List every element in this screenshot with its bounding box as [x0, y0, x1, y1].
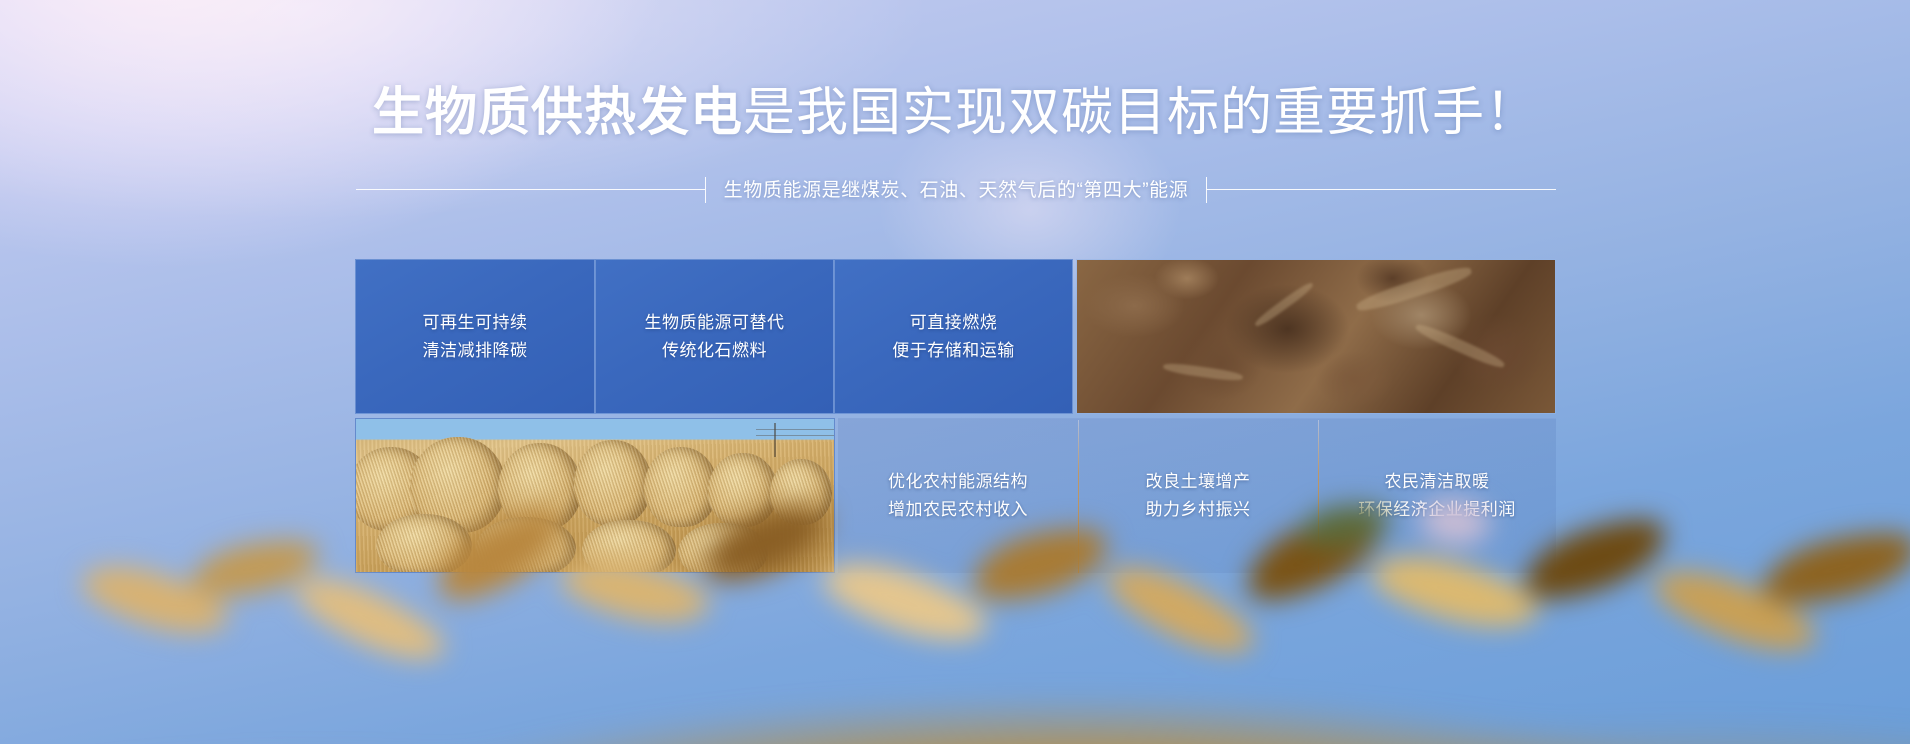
headline-remainder: 是我国实现双碳目标的重要抓手！ — [743, 84, 1538, 142]
straw-bales-image — [355, 418, 835, 573]
feature-line-1: 优化农村能源结构 — [888, 468, 1028, 496]
feature-cell-text: 改良土壤增产 助力乡村振兴 — [1146, 468, 1251, 523]
wood-chips-image — [1076, 259, 1556, 414]
feature-line-1: 可直接燃烧 — [892, 309, 1015, 337]
feature-cell-fossil-substitute[interactable]: 生物质能源可替代 传统化石燃料 — [595, 259, 834, 414]
feature-line-1: 改良土壤增产 — [1146, 468, 1251, 496]
feature-cell-text: 农民清洁取暖 环保经济企业提利润 — [1358, 468, 1516, 523]
straw-bales-texture — [356, 419, 834, 572]
banner-headline: 生物质供热发电是我国实现双碳目标的重要抓手！ — [0, 84, 1910, 142]
banner-subtitle: 生物质能源是继煤炭、石油、天然气后的“第四大”能源 — [706, 175, 1207, 202]
feature-line-1: 生物质能源可替代 — [645, 309, 785, 337]
feature-cell-text: 可再生可持续 清洁减排降碳 — [423, 309, 528, 364]
feature-cell-renewable[interactable]: 可再生可持续 清洁减排降碳 — [355, 259, 595, 414]
banner-subtitle-row: 生物质能源是继煤炭、石油、天然气后的“第四大”能源 — [356, 176, 1556, 203]
feature-cell-text: 可直接燃烧 便于存储和运输 — [892, 309, 1015, 364]
feature-cell-text: 优化农村能源结构 增加农民农村收入 — [888, 468, 1028, 523]
wood-chips-texture — [1077, 260, 1555, 413]
feature-row-top: 可再生可持续 清洁减排降碳 生物质能源可替代 传统化石燃料 可直接燃烧 便于存储… — [355, 259, 1556, 414]
subtitle-rule-right — [1207, 189, 1556, 190]
subtitle-rule-left — [356, 189, 705, 190]
feature-line-2: 传统化石燃料 — [645, 337, 785, 365]
feature-line-1: 农民清洁取暖 — [1358, 468, 1516, 496]
feature-cell-clean-heating[interactable]: 农民清洁取暖 环保经济企业提利润 — [1318, 418, 1556, 573]
headline-emphasis: 生物质供热发电 — [372, 84, 743, 142]
biomass-promo-banner: 生物质供热发电是我国实现双碳目标的重要抓手！ 生物质能源是继煤炭、石油、天然气后… — [0, 0, 1910, 744]
feature-line-1: 可再生可持续 — [423, 309, 528, 337]
feature-line-2: 清洁减排降碳 — [423, 337, 528, 365]
feature-cell-text: 生物质能源可替代 传统化石燃料 — [645, 309, 785, 364]
feature-row-bottom: 优化农村能源结构 增加农民农村收入 改良土壤增产 助力乡村振兴 农民清洁取暖 环… — [355, 418, 1556, 573]
feature-line-2: 助力乡村振兴 — [1146, 496, 1251, 524]
feature-cell-rural-energy[interactable]: 优化农村能源结构 增加农民农村收入 — [838, 418, 1078, 573]
feature-cell-soil-improvement[interactable]: 改良土壤增产 助力乡村振兴 — [1078, 418, 1318, 573]
feature-line-2: 环保经济企业提利润 — [1358, 496, 1516, 524]
feature-grid: 可再生可持续 清洁减排降碳 生物质能源可替代 传统化石燃料 可直接燃烧 便于存储… — [355, 259, 1556, 573]
feature-line-2: 增加农民农村收入 — [888, 496, 1028, 524]
feature-cell-direct-burn[interactable]: 可直接燃烧 便于存储和运输 — [834, 259, 1073, 414]
feature-line-2: 便于存储和运输 — [892, 337, 1015, 365]
